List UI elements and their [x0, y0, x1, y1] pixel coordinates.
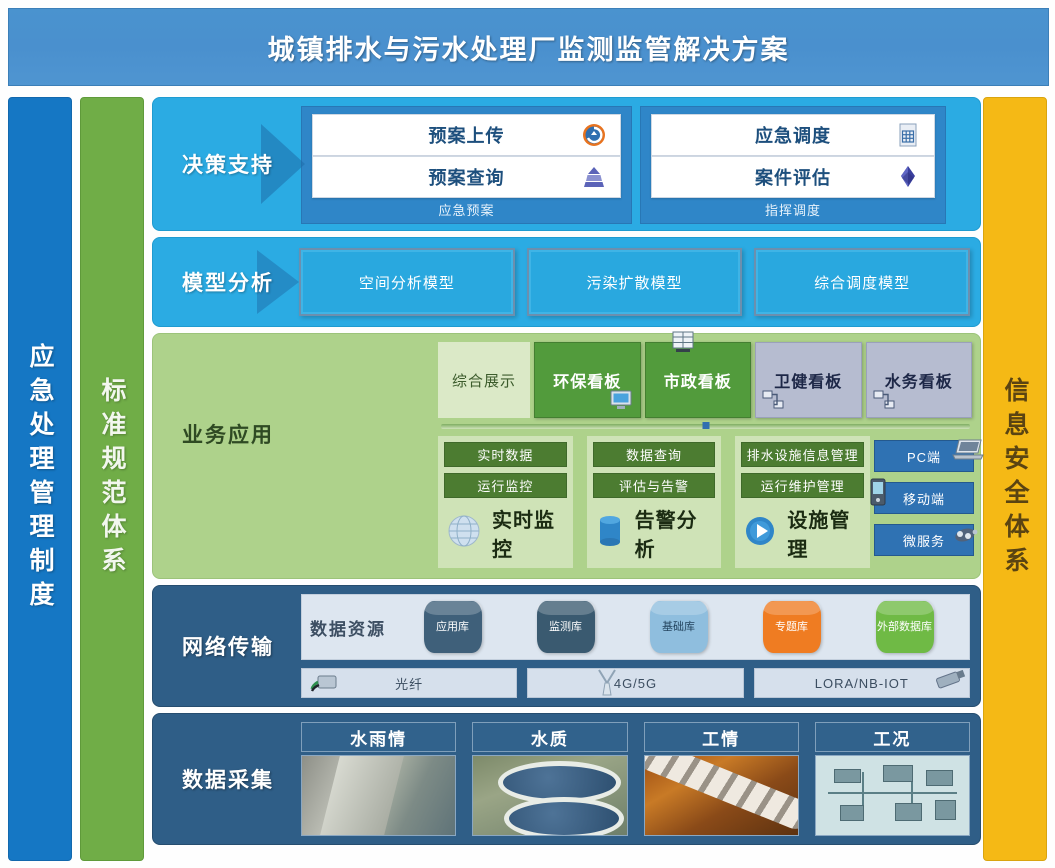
data-resource-label: 数据资源: [310, 615, 386, 640]
model-box-row: 空间分析模型 污染扩散模型 综合调度模型: [299, 248, 970, 316]
layer-model-analysis: 模型分析 空间分析模型 污染扩散模型 综合调度模型: [152, 237, 981, 327]
device-microservice[interactable]: 微服务: [874, 524, 974, 556]
device-mobile[interactable]: 移动端: [874, 482, 974, 514]
photo-canal: [301, 755, 456, 836]
database-icon: [593, 511, 627, 556]
business-feature-label: 告警分析: [635, 504, 716, 562]
business-feature-label: 实时监控: [492, 504, 567, 562]
database-cylinder-row: 应用库 监测库 基础库 专题库 外部数据库: [396, 601, 961, 653]
data-card-title: 水雨情: [301, 722, 456, 752]
decision-group-caption: 指挥调度: [651, 198, 935, 219]
photo-treatment-pools: [472, 755, 627, 836]
kanban-row: 综合展示 环保看板 市政看板: [438, 342, 972, 418]
kanban-label: 市政看板: [664, 368, 732, 392]
window-icon: [670, 329, 696, 355]
network-link-label: 光纤: [395, 674, 423, 693]
page-title: 城镇排水与污水处理厂监测监管解决方案: [268, 28, 790, 67]
decision-group-caption: 应急预案: [312, 198, 621, 219]
network-link-lora-nbiot[interactable]: LORA/NB-IOT: [754, 668, 970, 698]
laptop-icon: [951, 437, 981, 461]
mobile-phone-icon: [865, 477, 895, 501]
model-analysis-label: 模型分析: [153, 238, 303, 326]
business-feature-label: 设施管理: [787, 504, 864, 562]
database-application[interactable]: 应用库: [424, 601, 482, 653]
business-feature-alarm-analysis[interactable]: 告警分析: [593, 504, 716, 562]
model-box-dispatch[interactable]: 综合调度模型: [754, 248, 970, 316]
monitor-icon: [608, 387, 634, 413]
layer-data-acquisition: 数据采集 水雨情 水质 工情: [152, 713, 981, 845]
kanban-health[interactable]: 卫健看板: [755, 342, 862, 418]
decision-group-emergency-plan: 预案上传 预案查询: [301, 106, 632, 224]
pillar-emergency-label: 应急处理管理制度: [22, 343, 58, 615]
business-column-monitoring: 实时数据 运行监控 实时监控: [438, 436, 573, 568]
device-label: 微服务: [903, 531, 945, 550]
diagram-title-bar: 城镇排水与污水处理厂监测监管解决方案: [8, 8, 1049, 86]
business-chip-operation-maintenance[interactable]: 运行维护管理: [741, 473, 864, 498]
business-application-label: 业务应用: [153, 404, 303, 464]
decision-item-case-assessment[interactable]: 案件评估: [651, 156, 935, 198]
fiber-cable-icon: [310, 671, 342, 695]
network-link-label: LORA/NB-IOT: [815, 676, 909, 691]
business-column-facility: 排水设施信息管理 运行维护管理 设施管理: [735, 436, 870, 568]
data-card-works-condition[interactable]: 工情: [644, 722, 799, 836]
data-resource-panel: 数据资源 应用库 监测库 基础库 专题库 外部数据库: [301, 594, 970, 660]
data-acquisition-label: 数据采集: [153, 714, 303, 844]
business-chip-data-query[interactable]: 数据查询: [593, 442, 716, 467]
diamond-tree-icon: [894, 163, 922, 191]
data-card-title: 工况: [815, 722, 970, 752]
network-icon: [760, 387, 786, 413]
cloud-service-icon: [951, 521, 981, 545]
pillar-emergency-management: 应急处理管理制度: [8, 97, 72, 861]
decision-support-label: 决策支持: [153, 98, 303, 230]
decision-group-command-dispatch: 应急调度 案件评估: [640, 106, 946, 224]
kanban-divider: [441, 424, 970, 429]
network-link-4g5g[interactable]: 4G/5G: [527, 668, 743, 698]
decision-item-label: 案件评估: [755, 164, 831, 190]
pillar-standard-system: 标准规范体系: [80, 97, 144, 861]
data-card-water-quality[interactable]: 水质: [472, 722, 627, 836]
network-icon: [871, 387, 897, 413]
network-link-row: 光纤 4G/5G LORA/NB-IOT: [301, 668, 970, 698]
network-link-fiber[interactable]: 光纤: [301, 668, 517, 698]
photo-scada-diagram: [815, 755, 970, 836]
database-basic[interactable]: 基础库: [650, 601, 708, 653]
play-icon: [741, 512, 779, 555]
decision-item-label: 预案查询: [429, 164, 505, 190]
database-monitoring[interactable]: 监测库: [537, 601, 595, 653]
layer-decision-support: 决策支持 预案上传 预案查询: [152, 97, 981, 231]
data-card-operating-status[interactable]: 工况: [815, 722, 970, 836]
pillar-standard-label: 标准规范体系: [94, 377, 130, 581]
diagram-canvas: 城镇排水与污水处理厂监测监管解决方案 应急处理管理制度 标准规范体系 信息安全体…: [0, 0, 1055, 868]
upload-gauge-icon: [580, 121, 608, 149]
kanban-municipal[interactable]: 市政看板: [645, 342, 752, 418]
business-chip-drainage-facility-info[interactable]: 排水设施信息管理: [741, 442, 864, 467]
device-pc[interactable]: PC端: [874, 440, 974, 472]
business-chip-realtime-data[interactable]: 实时数据: [444, 442, 567, 467]
decision-item-emergency-dispatch[interactable]: 应急调度: [651, 114, 935, 156]
data-card-water-rain[interactable]: 水雨情: [301, 722, 456, 836]
business-feature-facility-management[interactable]: 设施管理: [741, 504, 864, 562]
business-chip-operation-monitor[interactable]: 运行监控: [444, 473, 567, 498]
comprehensive-display-label: 综合展示: [438, 342, 530, 418]
business-chip-assessment-alarm[interactable]: 评估与告警: [593, 473, 716, 498]
database-external[interactable]: 外部数据库: [876, 601, 934, 653]
network-transmission-label: 网络传输: [153, 586, 303, 706]
layer-stack: 决策支持 预案上传 预案查询: [152, 97, 981, 859]
data-card-title: 工情: [644, 722, 799, 752]
device-list: PC端 移动端: [874, 440, 974, 556]
pillar-information-security: 信息安全体系: [983, 97, 1047, 861]
model-box-pollution[interactable]: 污染扩散模型: [527, 248, 743, 316]
antenna-icon: [593, 667, 625, 691]
device-label: 移动端: [903, 489, 945, 508]
kanban-water-affairs[interactable]: 水务看板: [866, 342, 973, 418]
business-column-row: 实时数据 运行监控 实时监控: [438, 436, 870, 568]
model-box-spatial[interactable]: 空间分析模型: [299, 248, 515, 316]
layer-network-transmission: 网络传输 数据资源 应用库 监测库 基础库 专题库 外部数据库: [152, 585, 981, 707]
business-feature-realtime-monitoring[interactable]: 实时监控: [444, 504, 567, 562]
grid-table-icon: [894, 121, 922, 149]
decision-item-plan-upload[interactable]: 预案上传: [312, 114, 621, 156]
pillar-security-label: 信息安全体系: [997, 377, 1033, 581]
kanban-environment[interactable]: 环保看板: [534, 342, 641, 418]
decision-item-plan-query[interactable]: 预案查询: [312, 156, 621, 198]
data-card-title: 水质: [472, 722, 627, 752]
data-card-row: 水雨情 水质 工情 工况: [301, 722, 970, 836]
business-column-alarm: 数据查询 评估与告警 告警分析: [587, 436, 722, 568]
sensor-module-icon: [933, 667, 965, 691]
pyramid-chart-icon: [580, 163, 608, 191]
device-label: PC端: [907, 447, 941, 466]
decision-item-label: 应急调度: [755, 122, 831, 148]
globe-icon: [444, 511, 484, 556]
photo-pipeline: [644, 755, 799, 836]
layer-business-application: 业务应用 综合展示 环保看板 市政看板: [152, 333, 981, 579]
database-thematic[interactable]: 专题库: [763, 601, 821, 653]
decision-item-label: 预案上传: [429, 122, 505, 148]
